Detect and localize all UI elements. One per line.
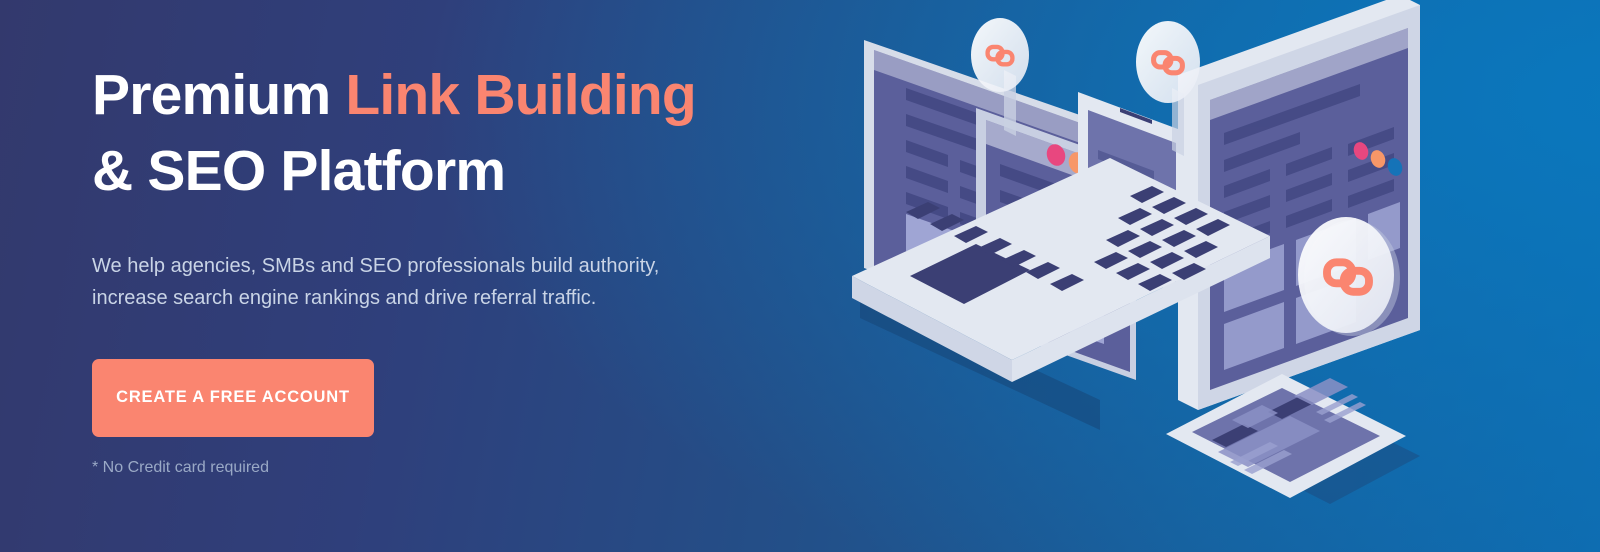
page-title: Premium Link Building & SEO Platform — [92, 58, 792, 210]
hero-banner: Premium Link Building & SEO Platform We … — [0, 0, 1600, 552]
hero-copy: Premium Link Building & SEO Platform We … — [92, 58, 792, 477]
no-credit-card-note: * No Credit card required — [92, 459, 792, 477]
headline-line-2: & SEO Platform — [92, 139, 505, 203]
hero-paragraph: We help agencies, SMBs and SEO professio… — [92, 250, 662, 314]
back-monitor — [1178, 0, 1420, 410]
headline-line-1: Premium Link Building — [92, 63, 696, 127]
create-free-account-button[interactable]: CREATE A FREE ACCOUNT — [92, 359, 374, 437]
headline-text-white: Premium — [92, 63, 345, 127]
hero-illustration — [800, 0, 1600, 552]
headline-text-accent: Link Building — [345, 63, 696, 127]
